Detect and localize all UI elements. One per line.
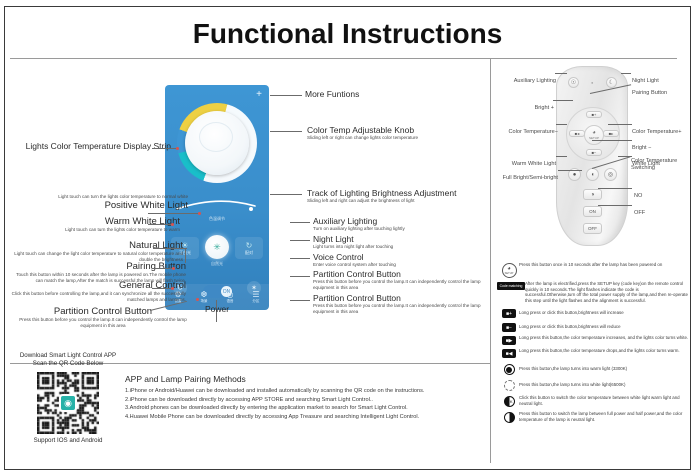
natural-light-icon: ✳ — [213, 242, 221, 253]
legend-row: K Click this button to switch the color … — [499, 395, 689, 407]
tile-voice[interactable]: ↻ 配对 — [235, 237, 263, 259]
pairing-methods-block: APP and Lamp Pairing Methods 1.iPhone or… — [125, 374, 485, 421]
remote-label-color-temp-down: Color Temperature− — [498, 120, 558, 138]
label-text: Color Temperature Switching — [631, 158, 691, 172]
callout-night-light: Night Light Light turns into night light… — [313, 234, 488, 250]
callout-title: Track of Lighting Brightness Adjustment — [307, 188, 489, 198]
color-temp-up-icon: ■▸ — [609, 131, 613, 136]
anchor-dot — [171, 223, 174, 226]
brightness-down-icon: ■− — [499, 322, 519, 332]
leader-remote-ct-up — [608, 124, 632, 125]
leader-remote-ct-down — [556, 124, 567, 125]
leader-more-functions — [270, 95, 302, 96]
remote-bright-up-button[interactable]: ■+ — [586, 111, 602, 118]
label-text: Bright − — [632, 145, 651, 151]
qr-line-2: Scan the QR Code Below — [18, 360, 118, 368]
brightness-down-icon: ■− — [592, 150, 597, 155]
callout-title: Color Temp Adjustable Knob — [307, 125, 487, 135]
remote-color-temp-down-button[interactable]: ■◂ — [569, 130, 585, 137]
leader-remote-aux — [555, 73, 567, 74]
brightness-up-icon: ■+ — [592, 112, 597, 117]
callout-sub: Light touch can turn the lights color te… — [8, 227, 180, 233]
pairing-item: 4.Huawei Mobile Phone can be downloaded … — [125, 413, 485, 422]
label-text: Color Temperature− — [509, 129, 559, 135]
filled-circle-icon: ● — [573, 172, 577, 178]
legend-text: Press this button to switch the lamp bet… — [519, 411, 689, 422]
callout-brightness-track: Track of Lighting Brightness Adjustment … — [307, 188, 489, 204]
warm-light-icon — [499, 363, 519, 375]
qr-caption: Support IOS and Android — [18, 437, 118, 445]
remote-label-auxiliary-lighting: Auxiliary Lighting — [498, 69, 556, 87]
bottom-item-voice[interactable]: ◎ 语音 — [226, 290, 233, 304]
callout-sub: Light turns into night light after touch… — [313, 244, 488, 250]
legend-tag: Code matching — [497, 282, 526, 290]
brightness-label: 色温调节 — [165, 216, 269, 222]
leader-remote-full-semi — [558, 170, 582, 171]
instruction-sheet: Functional Instructions + 色温调节 ☀ 正白光 ↻ — [0, 0, 695, 476]
leader-remote-bright-up — [553, 100, 573, 101]
off-label: OFF — [588, 226, 597, 231]
legend-text: Press this button once in 10 seconds aft… — [519, 262, 662, 268]
callout-sub: Click this button before controlling the… — [8, 291, 186, 303]
legend-row: Code matching After the lamp is electrif… — [499, 281, 689, 303]
leader-color-temp-knob — [270, 131, 302, 132]
callout-title: Pairing Button — [8, 261, 186, 272]
callout-sub: Enter voice control system after touchin… — [313, 262, 488, 268]
page-title: Functional Instructions — [0, 18, 695, 50]
callout-title: Warm White Light — [8, 216, 180, 227]
plus-icon[interactable]: + — [256, 90, 262, 100]
header-divider — [10, 58, 677, 59]
callout-title: Voice Control — [313, 252, 488, 262]
leader-remote-no — [598, 188, 632, 189]
anchor-dot — [172, 267, 175, 270]
leader-brightness-track — [270, 194, 302, 195]
callout-title: Auxiliary Lighting — [313, 216, 488, 226]
legend-row: ■+ Long press or click this button,brigh… — [499, 308, 689, 318]
code-matching-tag-icon: Code matching — [499, 281, 523, 290]
label-text: Auxiliary Lighting — [514, 78, 556, 84]
leader-remote-warm — [556, 156, 567, 157]
label-text: Color Temperature+ — [632, 129, 682, 135]
column-divider — [490, 59, 491, 463]
scene-icon: ❆ — [201, 290, 208, 299]
legend-text: Long press or click this button,brightne… — [519, 308, 624, 316]
anchor-dot — [198, 212, 201, 215]
remote-color-temp-up-button[interactable]: ■▸ — [603, 130, 619, 137]
brightness-knob[interactable] — [249, 207, 253, 211]
bottom-item-label: 分区 — [252, 299, 259, 304]
remote-full-half-bright-button[interactable]: ◑ — [583, 189, 602, 200]
legend-text: Press this button,the lamp turns into wa… — [519, 363, 627, 372]
callout-sub: Press this button before you control the… — [313, 279, 488, 291]
callout-title: More Funtions — [305, 89, 480, 99]
leader-natural-light — [153, 248, 187, 249]
callout-auxiliary-lighting: Auxiliary Lighting Turn on auxiliary lig… — [313, 216, 488, 232]
callout-title: Partition Control Button — [313, 293, 488, 303]
color-temp-down-icon: ■◂ — [575, 131, 579, 136]
remote-label-pairing-button: Pairing Button — [632, 81, 694, 99]
callout-general-control: General Control Click this button before… — [8, 280, 186, 303]
legend-text: Long press this button,the color tempera… — [519, 335, 688, 341]
remote-bright-down-button[interactable]: ■− — [586, 149, 602, 156]
leader-warm-white — [148, 224, 173, 225]
natural-light-button[interactable]: ✳ — [205, 235, 229, 259]
pairing-item: 3.Android phones can be downloaded direc… — [125, 404, 485, 413]
leader-pairing — [152, 268, 174, 269]
app-logo-icon: ◉ — [59, 394, 77, 412]
remote-on-button[interactable]: ON — [583, 206, 602, 217]
white-light-icon — [499, 379, 519, 391]
qr-line-1: Download Smart Light Control APP — [18, 352, 118, 360]
legend-row: ◕SETUP Press this button once in 10 seco… — [499, 262, 689, 278]
leader-remote-night — [621, 73, 631, 74]
callout-sub: Press this button before you control the… — [18, 317, 188, 329]
leader-night-light — [290, 240, 310, 241]
callout-title: General Control — [8, 280, 186, 291]
leader-positive-white — [148, 213, 200, 214]
leader-auxiliary-lighting — [290, 222, 310, 223]
remote-auxiliary-lighting-button[interactable]: ☉ — [568, 77, 579, 88]
callout-more-functions: More Funtions — [305, 89, 480, 99]
legend-text: Long press this button,the color tempera… — [519, 348, 680, 354]
voice-icon: ↻ — [246, 241, 253, 250]
label-text: Bright + — [535, 105, 554, 111]
legend-row: Press this button,the lamp turns into wa… — [499, 363, 689, 375]
callout-power: Power — [191, 304, 243, 314]
ir-led-icon: ● — [591, 80, 593, 85]
callout-title: Power — [191, 304, 243, 314]
brightness-up-icon: ■+ — [499, 308, 519, 318]
pairing-title: APP and Lamp Pairing Methods — [125, 374, 485, 384]
full-half-power-icon — [499, 411, 519, 423]
leader-remote-off — [598, 205, 632, 206]
legend-glyph: ■− — [502, 323, 516, 332]
remote-legend-list: ◕SETUP Press this button once in 10 seco… — [499, 262, 689, 426]
setup-circle-icon: ◕SETUP — [499, 262, 519, 278]
callout-title: Night Light — [313, 234, 488, 244]
qr-code[interactable]: ◉ — [37, 372, 99, 434]
legend-row: ■▶ Long press this button,the color temp… — [499, 335, 689, 345]
leader-partition-right-1 — [290, 276, 310, 277]
remote-label-bright-up: Bright + — [498, 96, 554, 114]
half-moon-icon: ◖ — [591, 172, 595, 178]
callout-title: Positive White Light — [8, 200, 188, 211]
callout-partition-left: Partition Control Button Press this butt… — [18, 306, 188, 329]
anchor-dot — [196, 298, 199, 301]
qr-download-block: Download Smart Light Control APP Scan th… — [18, 352, 118, 445]
callout-sub: Sliding left or right can change lights … — [307, 135, 487, 141]
callout-positive-white: Light touch can turn the lights color te… — [8, 194, 188, 211]
remote-label-off: OFF — [634, 201, 674, 219]
callout-voice-control: Voice Control Enter voice control system… — [313, 252, 488, 268]
remote-dpad: ■+ ■◂ ■▸ ■− ◕ SETUP — [566, 107, 620, 161]
legend-row: Press this button to switch the lamp bet… — [499, 411, 689, 423]
leader-display-strip — [152, 148, 178, 149]
bottom-item-partition[interactable]: ☰ 分区 — [252, 290, 259, 304]
label-text: Full Bright/Semi-bright — [503, 175, 558, 181]
remote-color-temp-switch-button[interactable]: ◖ — [586, 168, 599, 181]
anchor-dot — [171, 287, 174, 290]
remote-label-full-semi: Full Bright/Semi-bright — [494, 166, 558, 184]
callout-sub: Turn on auxiliary lighting after touchin… — [313, 226, 488, 232]
on-label: ON — [589, 209, 596, 214]
callout-title: Partition Control Button — [313, 269, 488, 279]
hollow-circle-icon: ◎ — [608, 171, 613, 178]
half-filled-circle-icon: ◑ — [591, 192, 595, 198]
remote-label-no: NO — [634, 184, 674, 202]
leader-general-control — [152, 288, 173, 289]
bulb-icon: ☉ — [571, 79, 576, 86]
label-text: NO — [634, 193, 642, 199]
mic-icon: ◎ — [226, 290, 233, 299]
callout-partition-right-1: Partition Control Button Press this butt… — [313, 269, 488, 291]
anchor-dot — [176, 147, 179, 150]
callout-display-strip: Lights Color Temperature Display Strip — [8, 141, 171, 151]
pairing-item: 2.iPhone can be downloaded directly by a… — [125, 396, 485, 405]
tile-label: 配对 — [245, 250, 253, 256]
label-text: OFF — [634, 210, 645, 216]
callout-sub: Sliding left and right can adjust the br… — [307, 198, 489, 204]
legend-glyph: ■+ — [502, 309, 516, 318]
remote-label-ct-switching: Color Temperature Switching — [631, 158, 691, 172]
list-icon: ☰ — [252, 290, 259, 299]
label-text: Pairing Button — [632, 90, 667, 96]
color-temp-switch-icon: K — [499, 395, 519, 407]
leader-partition-right-2 — [290, 300, 310, 301]
color-temp-down-icon: ■◀ — [499, 348, 519, 358]
legend-glyph: ■◀ — [502, 349, 516, 358]
callout-natural-light: Natural Light Light touch can change the… — [8, 240, 183, 263]
remote-off-button[interactable]: OFF — [583, 223, 602, 234]
remote-pairing-setup-button[interactable]: ◕ SETUP — [584, 125, 604, 145]
legend-row: ■− Long press or click this button,brigh… — [499, 322, 689, 332]
color-temp-up-icon: ■▶ — [499, 335, 519, 345]
legend-row: Press this button,the lamp turns into wh… — [499, 379, 689, 391]
legend-text: Long press or click this button,brightne… — [519, 322, 621, 330]
remote-night-light-button[interactable]: ☾ — [606, 77, 617, 88]
legend-text: Click this button to switch the color te… — [519, 395, 689, 406]
legend-text: After the lamp is electrified,press the … — [523, 281, 689, 303]
callout-partition-right-2: Partition Control Button Press this butt… — [313, 293, 488, 315]
callout-sub: Press this button before you control the… — [313, 303, 488, 315]
leader-remote-bright-down — [592, 140, 632, 141]
callout-title: Natural Light — [8, 240, 183, 251]
legend-text: Press this button,the lamp turns into wh… — [519, 379, 625, 388]
callout-title: Lights Color Temperature Display Strip — [8, 141, 171, 151]
leader-voice-control — [290, 258, 310, 259]
legend-glyph: ■▶ — [502, 336, 516, 345]
pairing-item: 1.iPhone or Android/Huawei can be downlo… — [125, 387, 485, 396]
callout-color-temp-knob: Color Temp Adjustable Knob Sliding left … — [307, 125, 487, 141]
bottom-item-scene[interactable]: ❆ 场景 — [201, 290, 208, 304]
knob-inner — [199, 122, 233, 152]
remote-white-light-button[interactable]: ◎ — [604, 168, 617, 181]
color-temp-knob[interactable] — [177, 103, 257, 183]
legend-row: ■◀ Long press this button,the color temp… — [499, 348, 689, 358]
setup-label: SETUP — [505, 272, 514, 275]
moon-icon: ☾ — [609, 79, 614, 86]
